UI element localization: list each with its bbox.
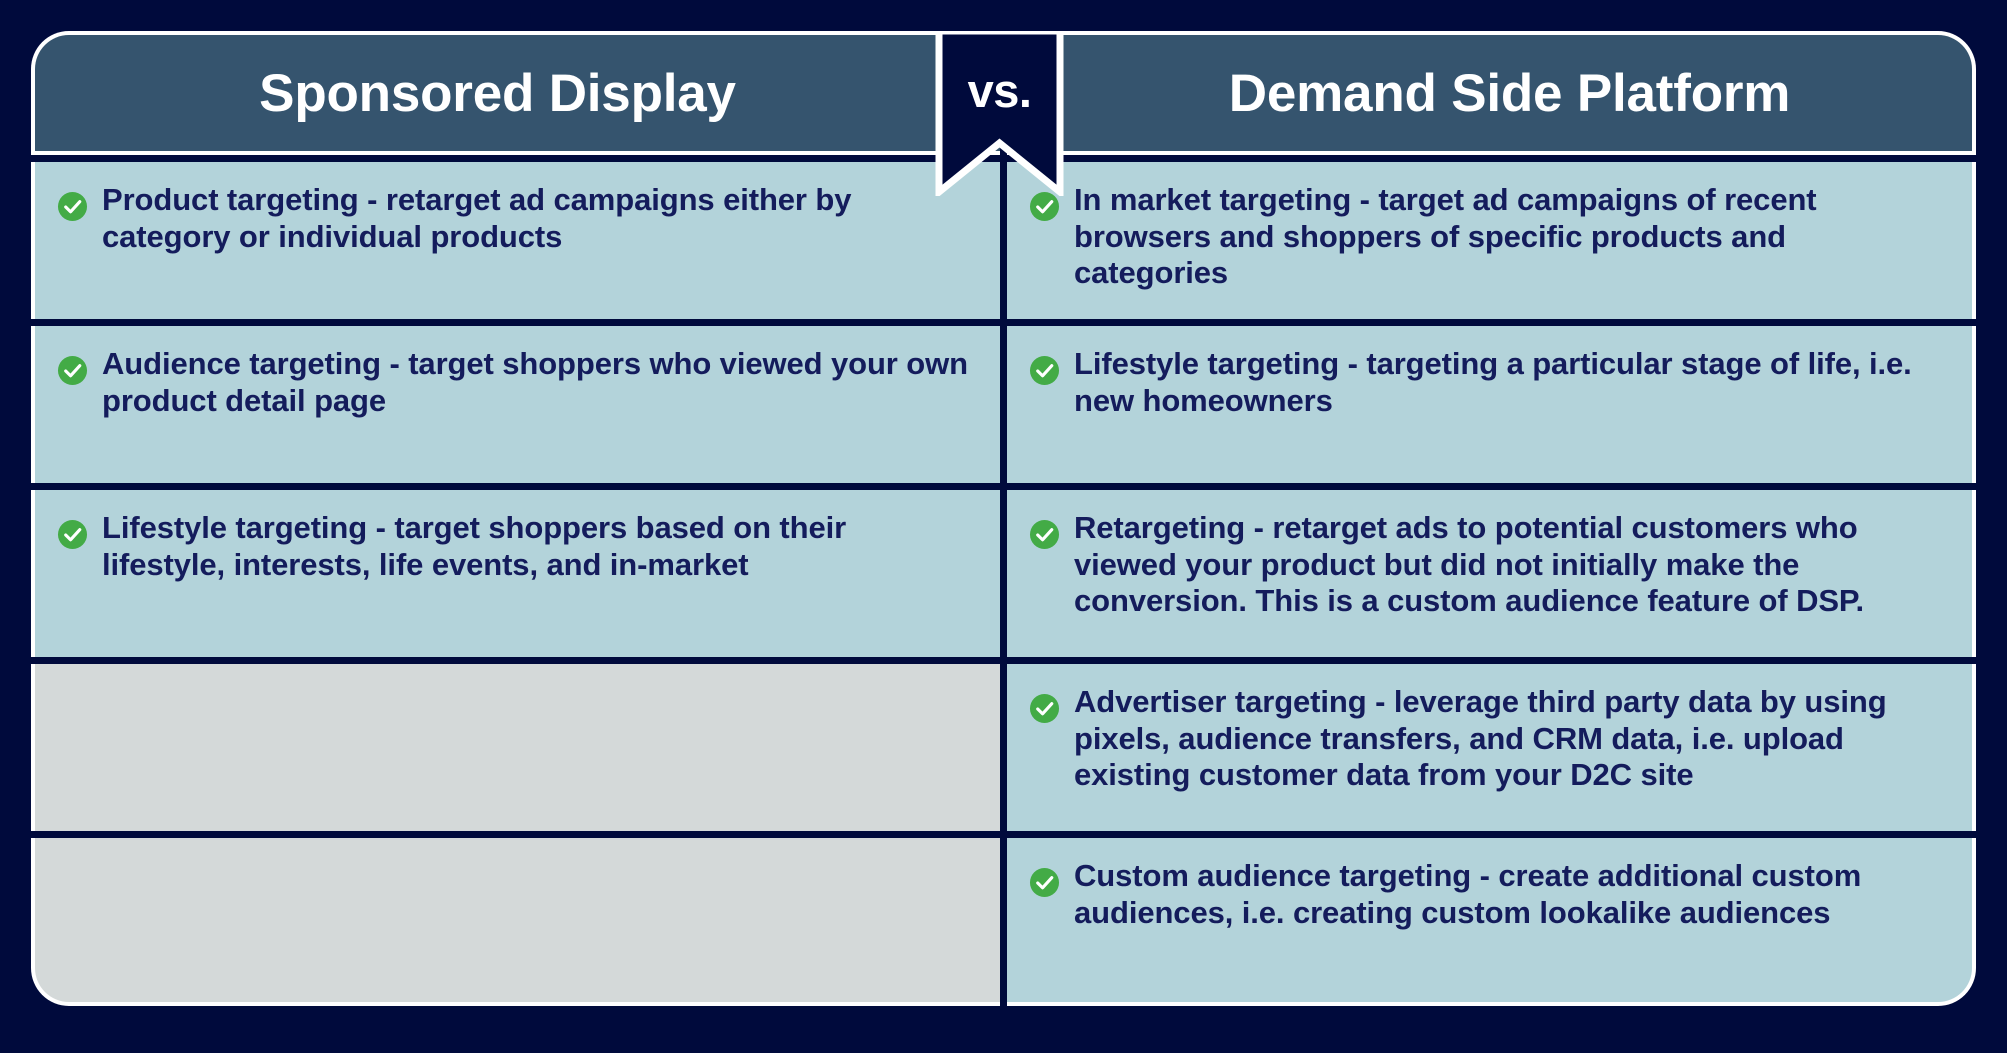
list-item-label: Advertiser targeting - leverage third pa…	[1074, 684, 1946, 794]
check-circle-icon	[1029, 355, 1060, 386]
comparison-infographic: Sponsored Display Product targeting - re…	[0, 0, 2007, 1053]
column-header-demand-side-platform: Demand Side Platform	[1007, 31, 1976, 155]
list-item: Lifestyle targeting - target shoppers ba…	[57, 510, 974, 583]
list-item-label: Product targeting - retarget ad campaign…	[102, 182, 974, 255]
check-circle-icon	[57, 191, 88, 222]
table-row: Custom audience targeting - create addit…	[1007, 838, 1976, 1006]
check-circle-icon	[1029, 693, 1060, 724]
list-item: Custom audience targeting - create addit…	[1029, 858, 1946, 931]
list-item-label: Lifestyle targeting - target shoppers ba…	[102, 510, 974, 583]
vs-ribbon-badge: vs.	[935, 31, 1064, 196]
table-row: Lifestyle targeting - target shoppers ba…	[31, 490, 1000, 657]
column-header-sponsored-display: Sponsored Display	[31, 31, 1000, 155]
table-row: Retargeting - retarget ads to potential …	[1007, 490, 1976, 657]
check-circle-icon	[1029, 519, 1060, 550]
list-item-label: Lifestyle targeting - targeting a partic…	[1074, 346, 1946, 419]
list-item-label: Retargeting - retarget ads to potential …	[1074, 510, 1946, 620]
table-row: Lifestyle targeting - targeting a partic…	[1007, 326, 1976, 483]
column-sponsored-display: Sponsored Display Product targeting - re…	[31, 31, 1000, 1006]
table-row: Audience targeting - target shoppers who…	[31, 326, 1000, 483]
list-item-label: Custom audience targeting - create addit…	[1074, 858, 1946, 931]
check-circle-icon	[57, 355, 88, 386]
table-row: In market targeting - target ad campaign…	[1007, 162, 1976, 319]
list-item: Advertiser targeting - leverage third pa…	[1029, 684, 1946, 794]
list-item: In market targeting - target ad campaign…	[1029, 182, 1946, 292]
column-demand-side-platform: Demand Side Platform In market targeting…	[1007, 31, 1976, 1006]
list-item: Lifestyle targeting - targeting a partic…	[1029, 346, 1946, 419]
table-row: Product targeting - retarget ad campaign…	[31, 162, 1000, 319]
list-item: Audience targeting - target shoppers who…	[57, 346, 974, 419]
check-circle-icon	[1029, 867, 1060, 898]
list-item: Product targeting - retarget ad campaign…	[57, 182, 974, 255]
check-circle-icon	[57, 519, 88, 550]
table-row-empty	[31, 664, 1000, 831]
list-item: Retargeting - retarget ads to potential …	[1029, 510, 1946, 620]
table-row-empty	[31, 838, 1000, 1006]
table-row: Advertiser targeting - leverage third pa…	[1007, 664, 1976, 831]
list-item-label: Audience targeting - target shoppers who…	[102, 346, 974, 419]
list-item-label: In market targeting - target ad campaign…	[1074, 182, 1946, 292]
